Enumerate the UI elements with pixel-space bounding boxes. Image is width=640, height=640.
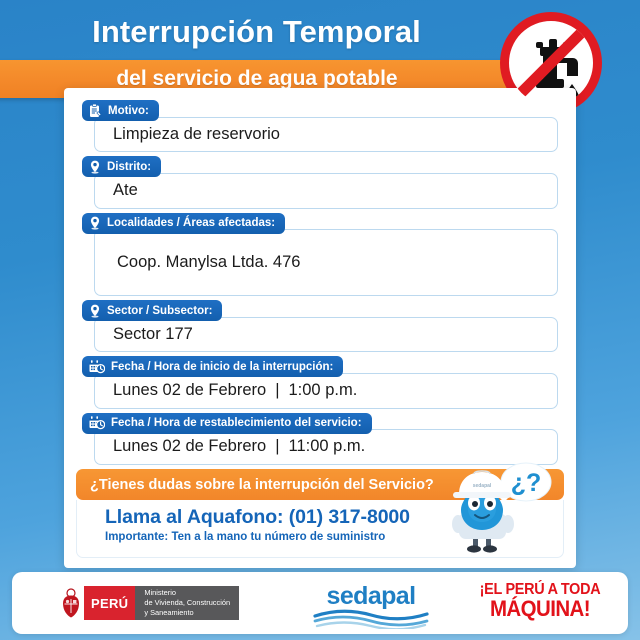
- location-pin-icon: [89, 304, 101, 318]
- field-distrito: Distrito: Ate: [76, 156, 564, 208]
- field-value-fecha-restablecimiento[interactable]: Lunes 02 de Febrero|11:00 p.m.: [94, 429, 558, 465]
- campaign-logo: ¡EL PERÚ A TODA MÁQUINA!: [470, 582, 610, 621]
- page-footer: PERÚ Ministerio de Vivienda, Construcció…: [12, 572, 628, 634]
- sedapal-wordmark: sedapal: [312, 584, 430, 609]
- svg-text:¿?: ¿?: [511, 469, 542, 497]
- field-label-fecha-inicio: Fecha / Hora de inicio de la interrupció…: [82, 356, 343, 377]
- field-label-text: Motivo:: [108, 105, 149, 117]
- sedapal-logo: sedapal: [312, 584, 430, 634]
- ministry-line-1: Ministerio: [144, 588, 230, 598]
- field-value-sector[interactable]: Sector 177: [94, 317, 558, 353]
- field-value-time: 11:00 p.m.: [289, 437, 366, 455]
- field-value-distrito[interactable]: Ate: [94, 173, 558, 209]
- field-label-text: Fecha / Hora de inicio de la interrupció…: [111, 361, 333, 373]
- field-value-date: Lunes 02 de Febrero: [113, 381, 266, 399]
- water-drop-mascot-icon: ¿? sedapal: [434, 462, 554, 554]
- field-value-text: Coop. Manylsa Ltda. 476: [113, 253, 300, 273]
- page-header: Interrupción Temporal del servicio de ag…: [0, 0, 640, 96]
- field-value-separator: |: [266, 381, 288, 399]
- help-bubble-icon: ¿?: [495, 463, 551, 506]
- field-value-text: Sector 177: [113, 325, 193, 345]
- field-label-text: Fecha / Hora de restablecimiento del ser…: [111, 417, 362, 429]
- field-value-separator: |: [266, 437, 288, 455]
- field-label-sector: Sector / Subsector:: [82, 300, 222, 321]
- location-pin-icon: [89, 216, 101, 230]
- field-label-fecha-restablecimiento: Fecha / Hora de restablecimiento del ser…: [82, 413, 372, 434]
- calendar-clock-icon: [89, 416, 105, 430]
- svg-text:sedapal: sedapal: [473, 483, 492, 489]
- ministry-line-2: de Vivienda, Construcción: [144, 598, 230, 608]
- ministry-line-3: y Saneamiento: [144, 608, 230, 618]
- help-question-text: ¿Tienes dudas sobre la interrupción del …: [90, 477, 434, 493]
- field-motivo: Motivo: Limpieza de reservorio: [76, 100, 564, 152]
- field-label-text: Localidades / Áreas afectadas:: [107, 217, 275, 229]
- field-value-text: Limpieza de reservorio: [113, 125, 280, 145]
- field-label-distrito: Distrito:: [82, 156, 161, 177]
- field-label-text: Sector / Subsector:: [107, 305, 212, 317]
- field-fecha-inicio: Fecha / Hora de inicio de la interrupció…: [76, 356, 564, 408]
- water-waves-icon: [313, 609, 429, 629]
- field-fecha-restablecimiento: Fecha / Hora de restablecimiento del ser…: [76, 413, 564, 465]
- field-value-motivo[interactable]: Limpieza de reservorio: [94, 117, 558, 153]
- location-pin-icon: [89, 160, 101, 174]
- field-value-time: 1:00 p.m.: [289, 381, 358, 399]
- field-value-fecha-inicio[interactable]: Lunes 02 de Febrero|1:00 p.m.: [94, 373, 558, 409]
- field-localidades: Localidades / Áreas afectadas: Coop. Man…: [76, 213, 564, 297]
- field-value-localidades[interactable]: Coop. Manylsa Ltda. 476: [94, 229, 558, 296]
- clipboard-icon: [89, 104, 102, 118]
- page-title: Interrupción Temporal: [0, 14, 513, 50]
- ministry-logo: PERÚ Ministerio de Vivienda, Construcció…: [58, 586, 239, 620]
- ministry-country: PERÚ: [84, 586, 135, 620]
- ministry-name: Ministerio de Vivienda, Construcción y S…: [135, 586, 239, 620]
- field-label-motivo: Motivo:: [82, 100, 159, 121]
- field-value-date: Lunes 02 de Febrero: [113, 437, 266, 455]
- field-value-text: Ate: [113, 181, 138, 201]
- field-label-text: Distrito:: [107, 161, 151, 173]
- help-banner: ¿Tienes dudas sobre la interrupción del …: [76, 469, 564, 558]
- peru-coat-of-arms-icon: [58, 587, 84, 619]
- calendar-clock-icon: [89, 360, 105, 374]
- field-label-localidades: Localidades / Áreas afectadas:: [82, 213, 285, 234]
- campaign-line-2: MÁQUINA!: [475, 598, 605, 620]
- notice-card: Motivo: Limpieza de reservorio Distrito:…: [64, 88, 576, 568]
- field-sector: Sector / Subsector: Sector 177: [76, 300, 564, 352]
